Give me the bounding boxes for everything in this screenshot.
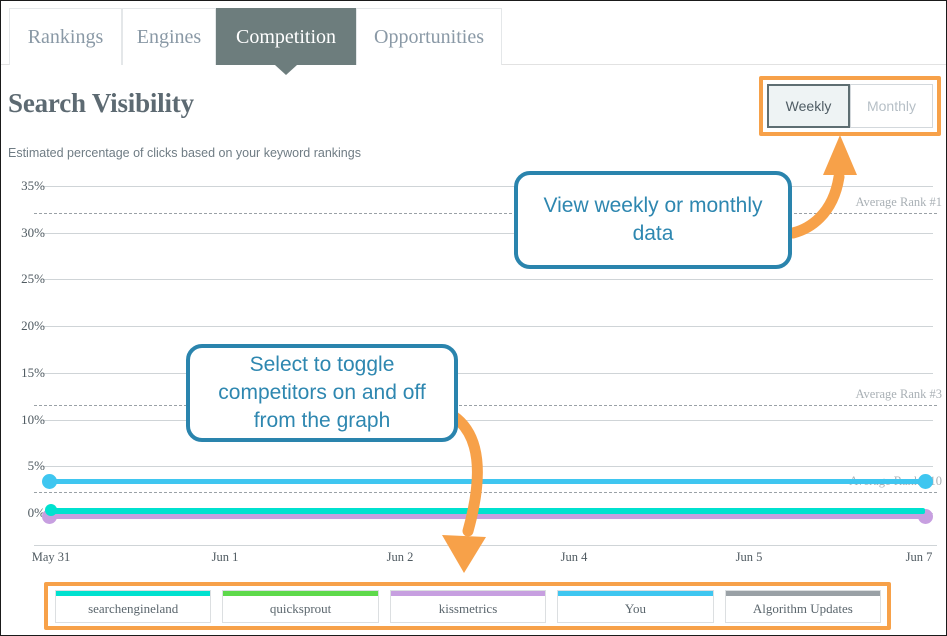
- tab-engines-label: Engines: [137, 26, 201, 49]
- callout-select-to-toggle-competitors: Select to toggle competitors on and off …: [186, 344, 458, 442]
- legend-label-searchengineland: searchengineland: [88, 601, 178, 617]
- legend-item-kissmetrics[interactable]: kissmetrics: [390, 590, 546, 623]
- xlabel-jun-7: Jun 7: [906, 550, 933, 565]
- gridline-25: [48, 279, 933, 280]
- legend-swatch-quicksprout: [223, 591, 377, 596]
- monthly-button-label: Monthly: [867, 98, 916, 114]
- reference-line-rank-1: [34, 213, 937, 214]
- gridline-20: [48, 326, 933, 327]
- gridline-35: [48, 186, 933, 187]
- reference-label-rank-1: Average Rank #1: [855, 195, 942, 213]
- legend-swatch-algorithm-updates: [726, 591, 880, 596]
- ylabel-0: 0%: [0, 505, 45, 521]
- legend-label-algorithm-updates: Algorithm Updates: [753, 601, 853, 617]
- monthly-button[interactable]: Monthly: [850, 84, 933, 128]
- ylabel-25: 25%: [0, 271, 45, 287]
- legend: searchengineland quicksprout kissmetrics…: [55, 590, 881, 623]
- xlabel-jun-2: Jun 2: [387, 550, 414, 565]
- reference-line-rank-3: [34, 405, 937, 406]
- tab-competition-label: Competition: [236, 26, 336, 49]
- legend-item-searchengineland[interactable]: searchengineland: [55, 590, 211, 623]
- gridline-15: [48, 373, 933, 374]
- x-axis-line: [34, 545, 937, 546]
- gridline-5: [48, 466, 933, 467]
- page-title: Search Visibility: [8, 88, 194, 119]
- search-visibility-panel: Rankings Engines Competition Opportuniti…: [0, 0, 947, 636]
- legend-label-you: You: [625, 601, 646, 617]
- tab-opportunities-label: Opportunities: [374, 26, 484, 49]
- reference-label-rank-3: Average Rank #3: [855, 387, 942, 405]
- tab-opportunities[interactable]: Opportunities: [356, 8, 502, 65]
- legend-label-kissmetrics: kissmetrics: [439, 601, 498, 617]
- gridline-10: [48, 420, 933, 421]
- series-line-you: [48, 479, 925, 484]
- callout-view-weekly-or-monthly: View weekly or monthly data: [514, 171, 792, 269]
- ylabel-10: 10%: [0, 412, 45, 428]
- ylabel-20: 20%: [0, 318, 45, 334]
- reference-line-rank-10: [34, 492, 937, 493]
- xlabel-jun-5: Jun 5: [736, 550, 763, 565]
- gridline-30: [48, 233, 933, 234]
- weekly-button-label: Weekly: [786, 98, 832, 114]
- callout-period-text: View weekly or monthly data: [528, 192, 778, 247]
- legend-swatch-searchengineland: [56, 591, 210, 596]
- ylabel-5: 5%: [0, 458, 45, 474]
- legend-label-quicksprout: quicksprout: [270, 601, 331, 617]
- weekly-button[interactable]: Weekly: [767, 84, 850, 128]
- tab-rankings-label: Rankings: [28, 26, 104, 49]
- legend-item-you[interactable]: You: [557, 590, 713, 623]
- search-visibility-chart: 35% 30% 25% 20% 15% 10% 5% 0% Average Ra…: [1, 169, 947, 569]
- tab-engines[interactable]: Engines: [122, 8, 216, 65]
- legend-item-quicksprout[interactable]: quicksprout: [222, 590, 378, 623]
- series-point-you-start: [42, 474, 57, 489]
- active-tab-caret-icon: [275, 65, 297, 75]
- legend-item-algorithm-updates[interactable]: Algorithm Updates: [725, 590, 881, 623]
- tab-rankings[interactable]: Rankings: [9, 8, 122, 65]
- page-subtitle: Estimated percentage of clicks based on …: [8, 146, 361, 160]
- legend-swatch-kissmetrics: [391, 591, 545, 596]
- ylabel-30: 30%: [0, 225, 45, 241]
- xlabel-may-31: May 31: [32, 550, 71, 565]
- ylabel-35: 35%: [0, 178, 45, 194]
- tab-competition[interactable]: Competition: [216, 8, 356, 65]
- xlabel-jun-1: Jun 1: [212, 550, 239, 565]
- tab-bar: Rankings Engines Competition Opportuniti…: [1, 1, 947, 65]
- period-toggle-group: Weekly Monthly: [767, 84, 933, 128]
- callout-legend-text: Select to toggle competitors on and off …: [200, 351, 444, 434]
- legend-swatch-you: [558, 591, 712, 596]
- xlabel-jun-4: Jun 4: [561, 550, 588, 565]
- ylabel-15: 15%: [0, 365, 45, 381]
